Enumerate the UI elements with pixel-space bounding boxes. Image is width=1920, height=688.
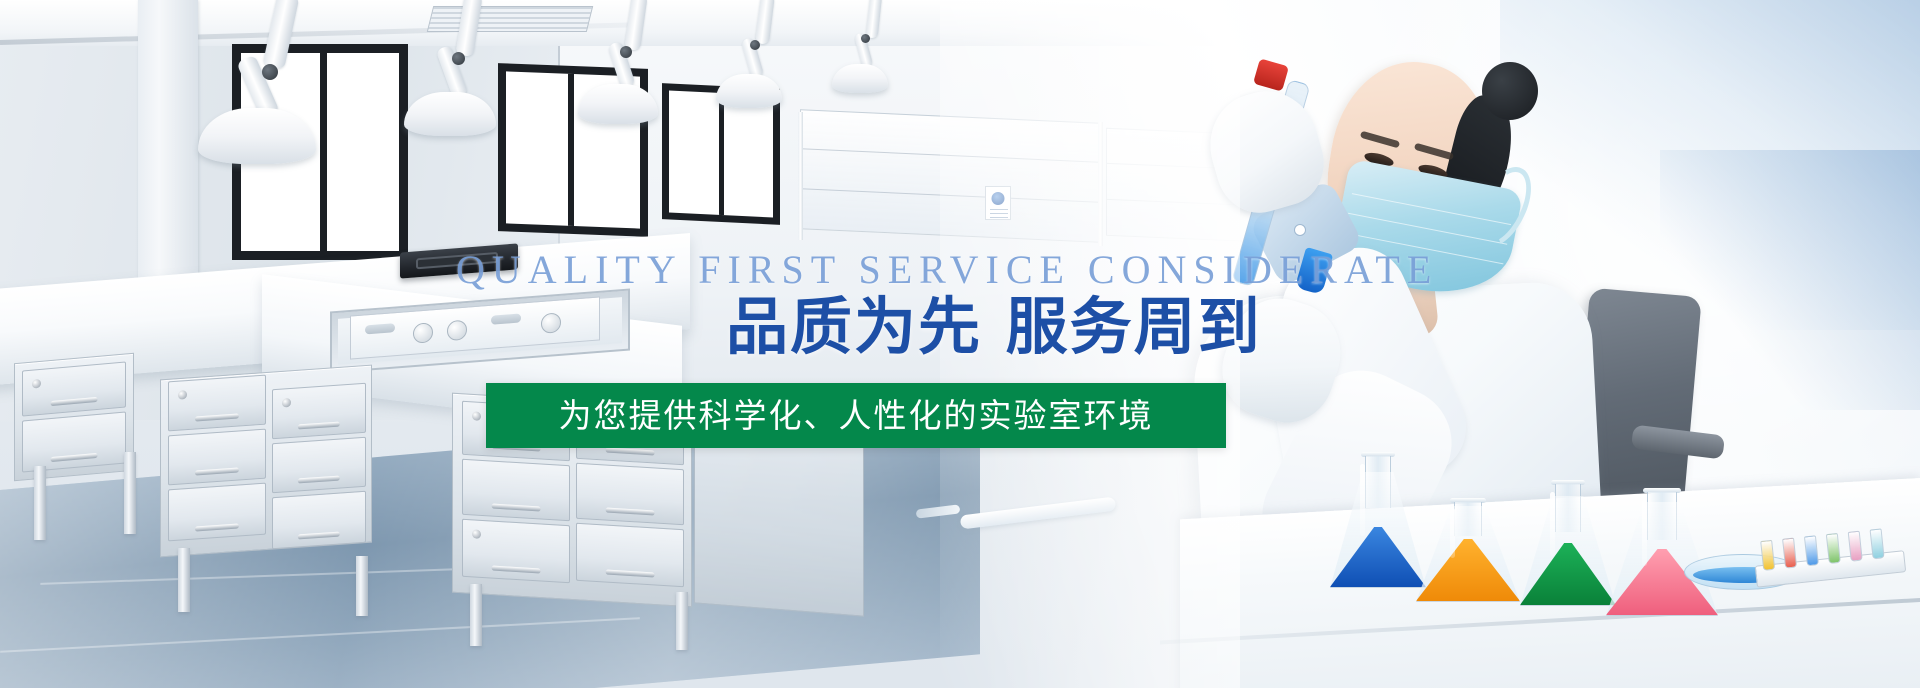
banner-headline: 品质为先 服务周到 (726, 296, 1262, 358)
laboratory-hero-banner: QUALITY FIRST SERVICE CONSIDERATE 品质为先 服… (0, 0, 1920, 688)
banner-subtitle-text: 为您提供科学化、人性化的实验室环境 (559, 399, 1154, 432)
banner-text-overlay: QUALITY FIRST SERVICE CONSIDERATE 品质为先 服… (0, 0, 1920, 688)
banner-subtitle-band: 为您提供科学化、人性化的实验室环境 (486, 383, 1226, 448)
banner-eyebrow-text: QUALITY FIRST SERVICE CONSIDERATE (456, 250, 1438, 290)
